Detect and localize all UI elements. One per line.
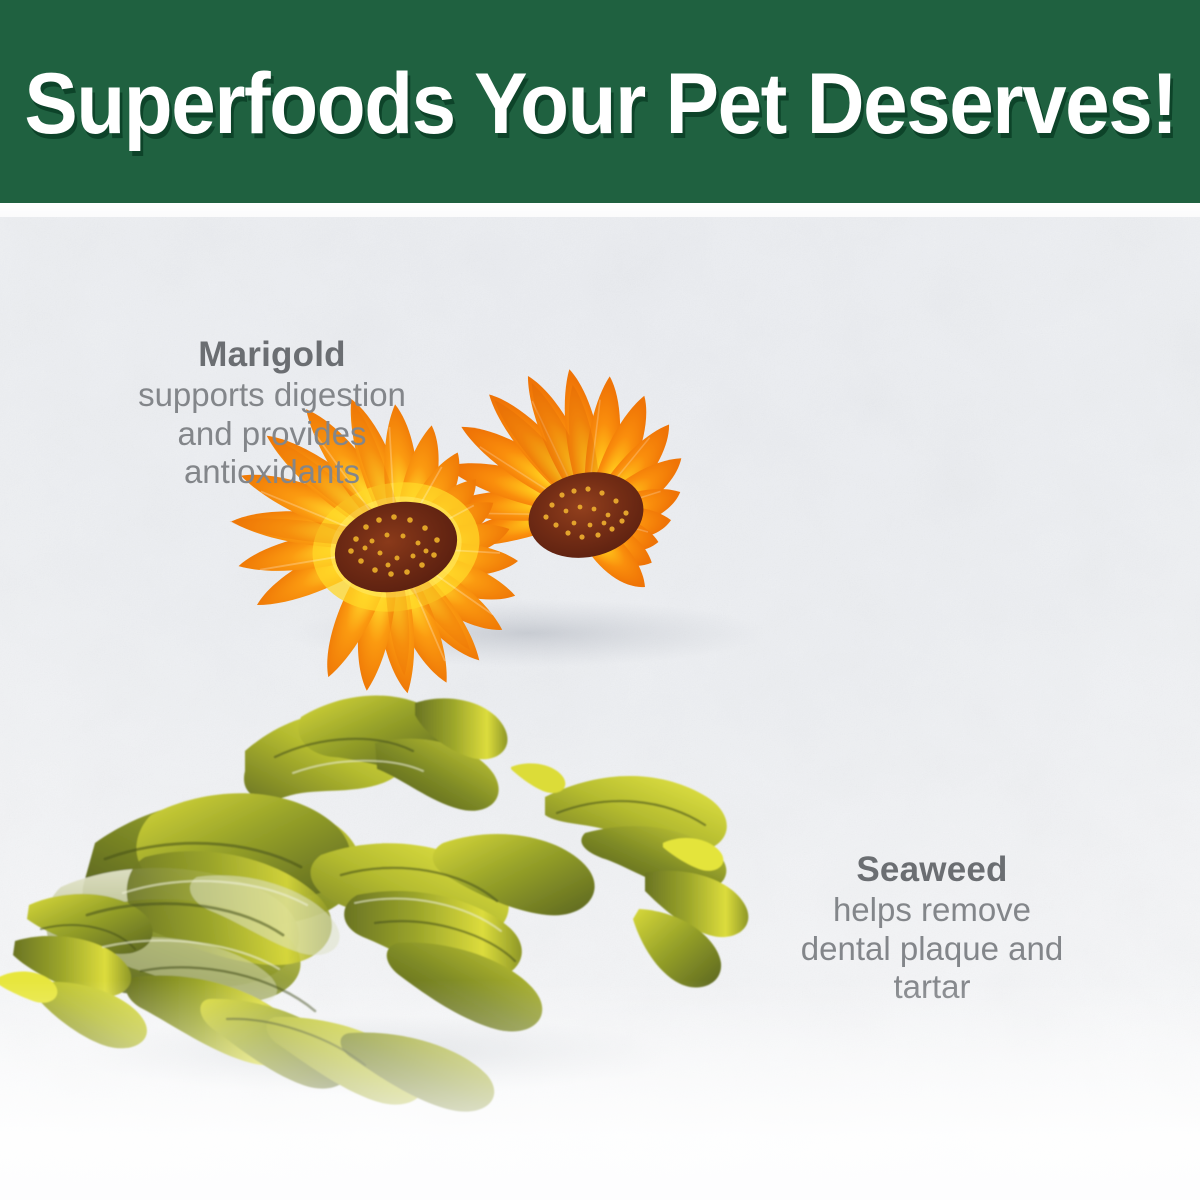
page-title: Superfoods Your Pet Deserves! <box>24 61 1176 147</box>
poster-canvas: Superfoods Your Pet Deserves! <box>0 0 1200 1200</box>
bottom-fade <box>0 980 1200 1200</box>
header-banner: Superfoods Your Pet Deserves! <box>0 0 1200 203</box>
banner-divider <box>0 203 1200 217</box>
marigold-line-1: supports digestion <box>52 376 492 415</box>
seaweed-heading: Seaweed <box>732 850 1132 889</box>
seaweed-line-1: helps remove <box>732 891 1132 930</box>
seaweed-line-2: dental plaque and <box>732 930 1132 969</box>
marigold-callout: Marigold supports digestion and provides… <box>52 335 492 492</box>
marigold-description: supports digestion and provides antioxid… <box>52 376 492 492</box>
content-stage: Marigold supports digestion and provides… <box>0 217 1200 1200</box>
marigold-heading: Marigold <box>52 335 492 374</box>
marigold-line-2: and provides <box>52 415 492 454</box>
marigold-line-3: antioxidants <box>52 453 492 492</box>
